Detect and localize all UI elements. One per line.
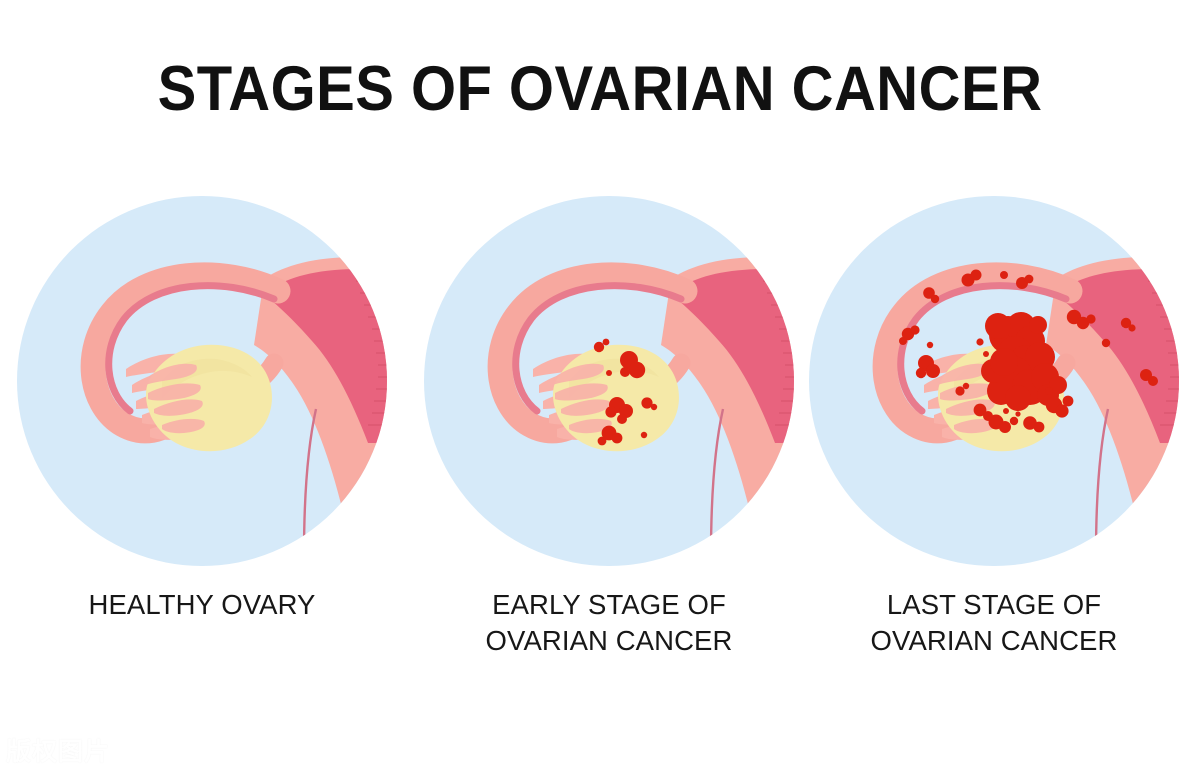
caption-line-2: OVARIAN CANCER xyxy=(808,623,1180,659)
caption-line-1: EARLY STAGE OF xyxy=(423,587,795,623)
tumor-lesion xyxy=(963,383,969,389)
panels-container: HEALTHY OVARY xyxy=(0,195,1200,695)
tumor-lesion xyxy=(955,386,964,395)
tumor-lesion xyxy=(612,433,623,444)
figure-last-stage xyxy=(808,195,1180,567)
tumor-lesion xyxy=(1025,275,1034,284)
tumor-mass-blob xyxy=(1029,316,1047,334)
tumor-lesion xyxy=(1045,387,1053,395)
caption-line-1: LAST STAGE OF xyxy=(808,587,1180,623)
tumor-lesion xyxy=(651,404,657,410)
tumor-lesion xyxy=(1148,376,1158,386)
tumor-lesion xyxy=(1055,404,1068,417)
caption-line-1: HEALTHY OVARY xyxy=(16,587,388,623)
tumor-lesion xyxy=(641,432,647,438)
tumor-lesion xyxy=(1086,314,1095,323)
copyright-watermark: 版权图片 xyxy=(6,732,110,768)
tumor-lesion xyxy=(606,370,612,376)
page-title: STAGES OF OVARIAN CANCER xyxy=(48,56,1152,122)
tumor-lesion xyxy=(1000,271,1008,279)
tumor-lesion xyxy=(1102,339,1110,347)
caption-early-stage: EARLY STAGE OF OVARIAN CANCER xyxy=(423,587,795,660)
tumor-lesion xyxy=(983,351,989,357)
panel-early-stage: EARLY STAGE OF OVARIAN CANCER xyxy=(423,195,795,567)
tumor-lesion xyxy=(931,295,939,303)
tumor-lesion xyxy=(620,367,630,377)
tumor-mass-blob xyxy=(990,348,1018,376)
tumor-lesion xyxy=(617,414,627,424)
tumor-lesion xyxy=(976,338,983,345)
tumor-lesion xyxy=(971,270,982,281)
caption-healthy-ovary: HEALTHY OVARY xyxy=(16,587,388,623)
tumor-mass-blob xyxy=(985,313,1011,339)
figure-healthy-ovary xyxy=(16,195,388,567)
tumor-lesion xyxy=(916,368,926,378)
tumor-lesion xyxy=(999,421,1011,433)
tumor-lesion xyxy=(598,437,607,446)
figure-early-stage xyxy=(423,195,795,567)
caption-line-2: OVARIAN CANCER xyxy=(423,623,795,659)
tumor-lesion xyxy=(993,354,999,360)
tumor-lesion xyxy=(1128,324,1135,331)
tumor-mass-blob xyxy=(1005,385,1031,411)
tumor-lesion xyxy=(605,406,616,417)
tumor-lesion xyxy=(1010,417,1018,425)
infographic-root: STAGES OF OVARIAN CANCER xyxy=(0,0,1200,774)
tumor-lesion xyxy=(926,364,940,378)
tumor-lesion xyxy=(629,362,645,378)
tumor-lesion xyxy=(1015,411,1020,416)
panel-last-stage: LAST STAGE OF OVARIAN CANCER xyxy=(808,195,1180,567)
tumor-lesion xyxy=(1063,396,1074,407)
tumor-lesion xyxy=(603,339,610,346)
tumor-lesion xyxy=(927,342,933,348)
tumor-lesion xyxy=(1034,422,1045,433)
tumor-lesion xyxy=(910,325,919,334)
panel-healthy-ovary: HEALTHY OVARY xyxy=(16,195,388,567)
tumor-lesion xyxy=(594,342,604,352)
tumor-lesion xyxy=(899,337,907,345)
tumor-lesion xyxy=(1003,408,1009,414)
caption-last-stage: LAST STAGE OF OVARIAN CANCER xyxy=(808,587,1180,660)
